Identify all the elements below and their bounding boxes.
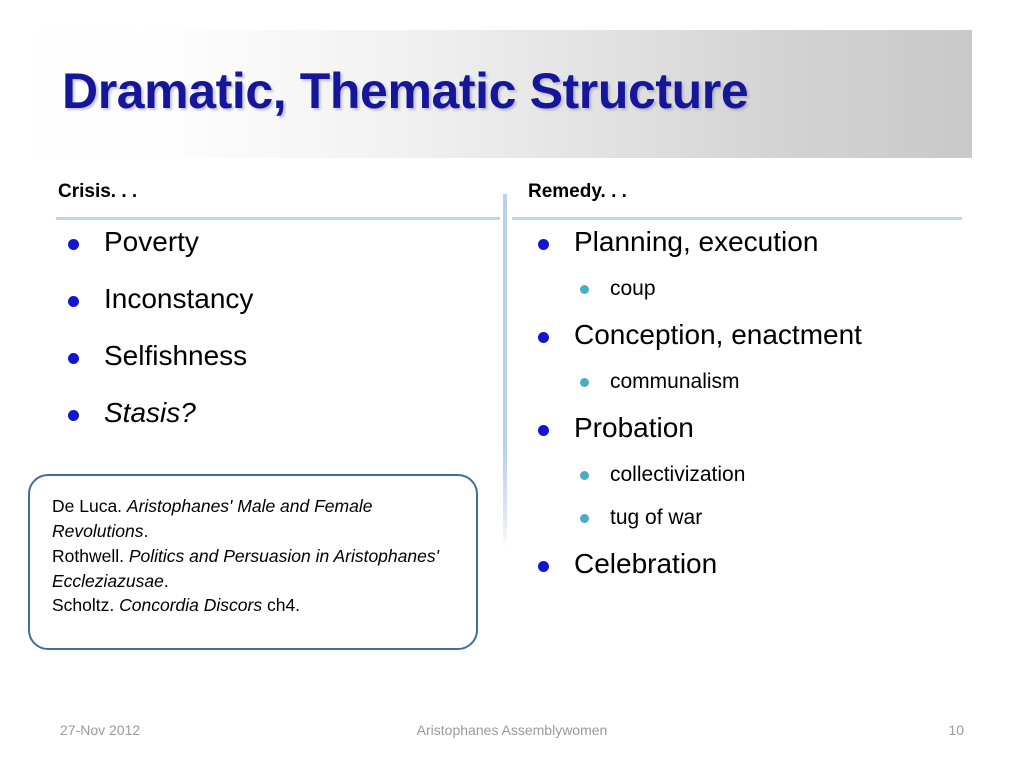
slide-footer: 27-Nov 2012 Aristophanes Assemblywomen 1… xyxy=(0,722,1024,744)
list-item: Inconstancy xyxy=(58,285,498,313)
list-item: Probation xyxy=(528,414,968,442)
list-item: Poverty xyxy=(58,228,498,256)
list-item: Conception, enactment xyxy=(528,321,968,349)
citation-box: De Luca. Aristophanes' Male and Female R… xyxy=(28,474,478,650)
citation-suffix: ch4. xyxy=(262,595,300,615)
bullet-list-crisis: Poverty Inconstancy Selfishness Stasis? xyxy=(58,228,498,456)
sub-list-item: communalism xyxy=(528,371,968,392)
column-remedy: Remedy. . . Planning, execution coup Con… xyxy=(528,182,968,203)
column-heading-crisis: Crisis. . . xyxy=(58,182,498,203)
citation-author: De Luca. xyxy=(52,496,127,516)
heading-rule-left xyxy=(56,217,500,220)
citation-suffix: . xyxy=(164,571,169,591)
citation-line: De Luca. Aristophanes' Male and Female R… xyxy=(52,494,456,544)
list-item: Stasis? xyxy=(58,399,498,427)
citation-line: Scholtz. Concordia Discors ch4. xyxy=(52,593,456,618)
slide: Dramatic, Thematic Structure Crisis. . .… xyxy=(0,0,1024,768)
page-title: Dramatic, Thematic Structure xyxy=(62,62,962,120)
citation-line: Rothwell. Politics and Persuasion in Ari… xyxy=(52,544,456,594)
column-crisis: Crisis. . . Poverty Inconstancy Selfishn… xyxy=(58,182,498,203)
column-heading-remedy: Remedy. . . xyxy=(528,182,968,203)
sub-list-item: tug of war xyxy=(528,507,968,528)
list-item: Selfishness xyxy=(58,342,498,370)
citation-title: Concordia Discors xyxy=(119,595,262,615)
sub-list-item: coup xyxy=(528,278,968,299)
citation-author: Scholtz. xyxy=(52,595,119,615)
citation-suffix: . xyxy=(143,521,148,541)
list-item: Planning, execution xyxy=(528,228,968,256)
heading-rule-right xyxy=(512,217,962,220)
column-divider xyxy=(503,194,507,549)
citation-author: Rothwell. xyxy=(52,546,129,566)
list-item: Celebration xyxy=(528,550,968,578)
bullet-list-remedy: Planning, execution coup Conception, ena… xyxy=(528,228,968,600)
footer-page-number: 10 xyxy=(0,722,964,738)
sub-list-item: collectivization xyxy=(528,464,968,485)
